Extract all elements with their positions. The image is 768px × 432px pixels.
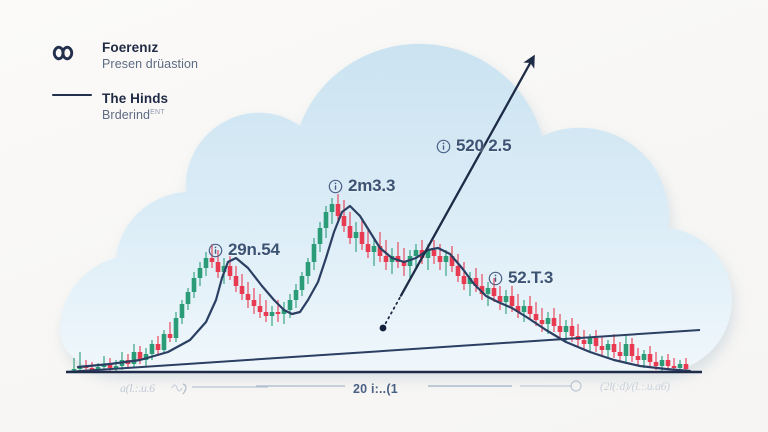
breakout-arrow-tail	[383, 296, 401, 328]
candle-body	[600, 346, 605, 350]
candle-body	[192, 278, 197, 292]
candle-body	[282, 310, 287, 314]
chart-legend: Foerenız Presen drüastion The Hinds Brde…	[52, 40, 198, 141]
candle-body	[642, 354, 647, 360]
candle-body	[444, 256, 449, 262]
candle-body	[432, 250, 437, 256]
candle-body	[594, 338, 599, 346]
candle-body	[180, 304, 185, 318]
candle-body	[468, 278, 473, 284]
candle-body	[300, 276, 305, 290]
candle-body	[96, 367, 101, 370]
candle-body	[522, 306, 527, 312]
candle-body	[588, 338, 593, 344]
candle-body	[654, 362, 659, 366]
candle-body	[216, 262, 221, 272]
candle-body	[126, 360, 131, 364]
candle-body	[402, 262, 407, 266]
candle-body	[456, 266, 461, 276]
legend-item-subtitle: BrderindENT	[102, 108, 168, 123]
candle-body	[450, 256, 455, 266]
infinity-icon	[52, 40, 98, 63]
candle-body	[240, 286, 245, 294]
axis-left-scribble: a(l.:.u.6	[120, 381, 155, 396]
axis-right-scribble: (2l(:d)/(l.:.u.a6)	[600, 379, 670, 394]
candle-body	[246, 294, 251, 300]
candle-body	[516, 306, 521, 312]
callout-value: 52.T.3	[508, 268, 553, 288]
info-circle-icon	[208, 243, 223, 258]
candle-body	[462, 276, 467, 284]
candle-body	[336, 204, 341, 216]
candle-body	[666, 360, 671, 366]
candle-body	[168, 334, 173, 338]
candle-body	[72, 369, 77, 370]
candle-body	[390, 256, 395, 262]
candle-body	[324, 212, 329, 228]
candle-body	[576, 336, 581, 340]
candle-body	[258, 306, 263, 312]
candle-body	[552, 318, 557, 326]
candle-body	[108, 364, 113, 368]
candle-body	[120, 360, 125, 366]
candle-body	[228, 266, 233, 276]
info-circle-icon	[488, 271, 503, 286]
candle-body	[396, 256, 401, 262]
candle-body	[570, 326, 575, 336]
candle-body	[288, 300, 293, 310]
candle-body	[318, 228, 323, 244]
candle-body	[252, 300, 257, 306]
candle-body	[294, 290, 299, 300]
candle-body	[636, 356, 641, 360]
candle-body	[264, 312, 269, 316]
callout-2[interactable]: 520 2.5	[436, 136, 511, 156]
callout-1[interactable]: 2m3.3	[328, 176, 395, 196]
candle-body	[660, 360, 665, 366]
candle-body	[420, 250, 425, 258]
candle-body	[306, 262, 311, 276]
candle-body	[678, 364, 683, 368]
candle-series	[72, 194, 689, 372]
candle-body	[366, 244, 371, 252]
axis-center-label: 20 i:..(1	[353, 382, 398, 396]
candle-body	[672, 366, 677, 368]
candle-body	[144, 354, 149, 360]
callout-0[interactable]: 29n.54	[208, 240, 280, 260]
candle-body	[558, 326, 563, 332]
candle-body	[378, 246, 383, 256]
candle-body	[618, 352, 623, 356]
candle-body	[528, 306, 533, 314]
candle-body	[174, 318, 179, 338]
candle-body	[504, 296, 509, 302]
candle-body	[156, 344, 161, 350]
legend-item-subtitle: Presen drüastion	[102, 57, 198, 72]
candle-body	[624, 344, 629, 356]
candle-body	[234, 276, 239, 286]
candle-body	[474, 278, 479, 286]
legend-item-title: The Hinds	[102, 91, 168, 107]
candle-body	[102, 364, 107, 367]
candle-body	[480, 286, 485, 294]
candle-body	[186, 292, 191, 304]
callout-value: 2m3.3	[348, 176, 395, 196]
candle-body	[312, 244, 317, 262]
smoothed-trend-line	[78, 206, 690, 371]
legend-item-0[interactable]: Foerenız Presen drüastion	[52, 40, 198, 73]
candle-body	[684, 364, 689, 369]
chart-illustration-canvas: Foerenız Presen drüastion The Hinds Brde…	[0, 0, 768, 432]
candle-body	[540, 320, 545, 324]
candle-body	[414, 250, 419, 256]
candle-body	[492, 288, 497, 296]
info-circle-icon	[436, 139, 451, 154]
legend-item-1[interactable]: The Hinds BrderindENT	[52, 91, 198, 124]
candle-body	[606, 344, 611, 350]
candle-body	[612, 344, 617, 352]
callout-value: 520 2.5	[456, 136, 511, 156]
candle-body	[138, 352, 143, 360]
candle-body	[546, 318, 551, 324]
candle-body	[330, 204, 335, 212]
candle-body	[564, 326, 569, 332]
candle-body	[222, 266, 227, 272]
line-swatch-icon	[52, 91, 98, 96]
candle-body	[348, 226, 353, 238]
legend-item-title: Foerenız	[102, 40, 198, 56]
candle-body	[648, 354, 653, 362]
candle-body	[198, 268, 203, 278]
candle-body	[342, 216, 347, 226]
candle-body	[486, 288, 491, 294]
candle-body	[162, 334, 167, 350]
candle-body	[630, 344, 635, 356]
info-circle-icon	[328, 179, 343, 194]
callout-value: 29n.54	[228, 240, 280, 260]
callout-3[interactable]: 52.T.3	[488, 268, 553, 288]
candle-body	[84, 366, 89, 368]
candle-body	[270, 312, 275, 316]
origin-dot	[380, 325, 387, 332]
candle-body	[132, 352, 137, 364]
candle-body	[408, 256, 413, 266]
candle-body	[534, 314, 539, 320]
candle-body	[438, 256, 443, 262]
candle-body	[510, 296, 515, 306]
rising-support-trendline	[66, 330, 700, 372]
candle-body	[354, 232, 359, 238]
candle-body	[426, 250, 431, 258]
candle-body	[114, 366, 119, 368]
candle-body	[78, 366, 83, 369]
candle-body	[276, 312, 281, 314]
candle-body	[384, 256, 389, 262]
breakout-arrow	[401, 58, 533, 296]
candle-body	[498, 296, 503, 302]
candle-body	[360, 232, 365, 244]
candle-body	[150, 344, 155, 354]
candle-body	[582, 340, 587, 344]
candle-body	[372, 246, 377, 252]
candle-body	[90, 368, 95, 370]
